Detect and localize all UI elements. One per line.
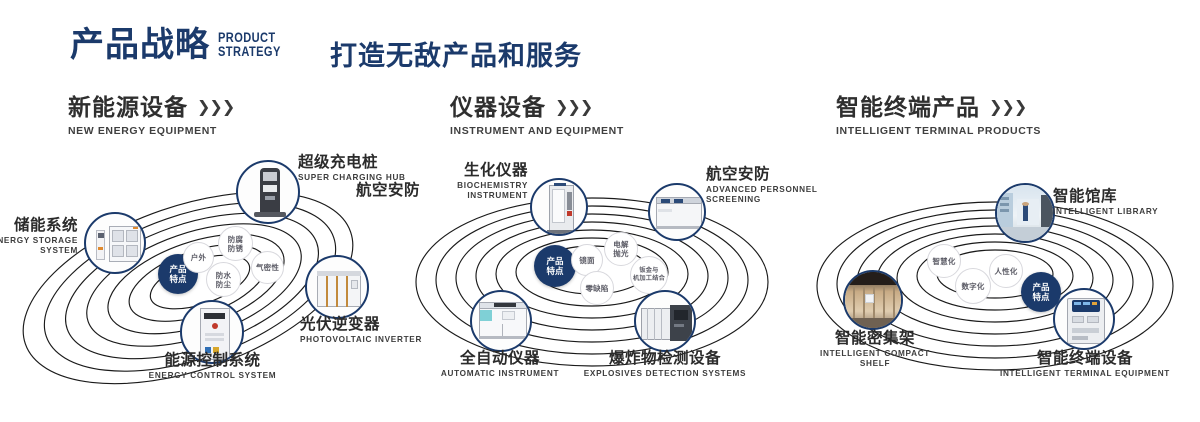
caption-cn: 爆炸物检测设备 <box>545 350 785 368</box>
caption-intelligent-terminal-equipment: 智能终端设备 INTELLIGENT TERMINAL EQUIPMENT <box>965 350 1200 379</box>
node-photovoltaic-inverter[interactable] <box>305 255 369 319</box>
feature-bubble-2: 防水 防尘 <box>206 262 241 297</box>
core-bubble-label: 产品 特点 <box>169 264 186 284</box>
biochemistry-instrument-illustration <box>532 180 586 234</box>
chevrons-icon: ❯❯❯ <box>989 95 1026 121</box>
caption-cn: 智能终端设备 <box>965 350 1200 368</box>
intelligent-library-illustration <box>997 185 1053 241</box>
node-explosives-detection-systems[interactable] <box>634 290 696 352</box>
feature-label: 人性化 <box>994 267 1017 276</box>
caption-en: INTELLIGENT LIBRARY <box>1053 207 1200 217</box>
feature-label: 钣金与 机加工结合 <box>633 267 665 282</box>
chevrons-icon: ❯❯❯ <box>555 95 592 121</box>
section-title-text-intelligent-terminal: 智能终端产品 <box>836 94 980 120</box>
section-title-en-intelligent-terminal: INTELLIGENT TERMINAL PRODUCTS <box>836 125 1041 137</box>
feature-bubble-2: 零缺陷 <box>580 271 614 305</box>
core-bubble-label: 产品 特点 <box>1032 282 1049 302</box>
section-heading-instrument: 仪器设备❯❯❯ INSTRUMENT AND EQUIPMENT <box>450 94 624 137</box>
screening-machine-illustration <box>650 185 704 239</box>
explosives-detection-illustration <box>636 292 694 350</box>
page-slogan: 打造无敌产品和服务 <box>330 34 582 73</box>
feature-label: 零缺陷 <box>585 284 608 293</box>
section-title-cn-intelligent-terminal: 智能终端产品❯❯❯ <box>836 94 1041 121</box>
caption-cn: 智能密集架 <box>755 330 995 348</box>
caption-explosives-detection-systems: 爆炸物检测设备 EXPLOSIVES DETECTION SYSTEMS <box>545 350 785 379</box>
node-intelligent-terminal-equipment[interactable] <box>1053 288 1115 350</box>
node-biochemistry-instrument[interactable] <box>530 178 588 236</box>
node-advanced-personnel-screening[interactable] <box>648 183 706 241</box>
caption-en: BIOCHEMISTRY INSTRUMENT <box>348 181 528 201</box>
intelligent-terminal-illustration <box>1055 290 1113 348</box>
section-heading-intelligent-terminal: 智能终端产品❯❯❯ INTELLIGENT TERMINAL PRODUCTS <box>836 94 1041 137</box>
feature-bubble-1: 防腐 防锈 <box>218 226 253 261</box>
caption-en: ENERGY CONTROL SYSTEM <box>80 371 345 381</box>
feature-bubble-1: 数字化 <box>955 268 991 304</box>
feature-label: 电解 抛光 <box>613 240 628 258</box>
page-header: 产品战略 PRODUCT STRATEGY 打造无敌产品和服务 <box>0 0 1200 88</box>
section-title-cn-new-energy: 新能源设备❯❯❯ <box>68 94 234 121</box>
section-title-en-new-energy: NEW ENERGY EQUIPMENT <box>68 125 234 137</box>
feature-label: 气密性 <box>256 263 279 272</box>
feature-bubble-1: 电解 抛光 <box>604 232 638 266</box>
section-title-text-instrument: 仪器设备 <box>450 94 546 120</box>
core-bubble-instrument: 产品 特点 <box>534 245 576 287</box>
energy-storage-illustration <box>86 214 144 272</box>
caption-en: ENERGY STORAGE SYSTEM <box>0 236 78 256</box>
caption-energy-control-system: 能源控制系统 ENERGY CONTROL SYSTEM <box>80 352 345 381</box>
feature-label: 户外 <box>191 253 206 262</box>
caption-intelligent-library: 智能馆库 INTELLIGENT LIBRARY <box>1053 188 1200 217</box>
section-title-cn-instrument: 仪器设备❯❯❯ <box>450 94 624 121</box>
caption-energy-storage-system: 储能系统 ENERGY STORAGE SYSTEM <box>0 217 78 256</box>
feature-label: 防腐 防锈 <box>228 235 243 253</box>
caption-cn: 生化仪器 <box>348 162 528 180</box>
page-title-cn: 产品战略 <box>70 28 210 62</box>
cluster-intelligent-terminal: 智慧化 数字化 人性化 产品 特点 智能馆库 INTELLIGENT LIBRA… <box>795 150 1200 422</box>
core-bubble-label: 产品 特点 <box>546 256 563 276</box>
caption-en: EXPLOSIVES DETECTION SYSTEMS <box>545 369 785 379</box>
caption-cn: 智能馆库 <box>1053 188 1200 206</box>
node-energy-storage-system[interactable] <box>84 212 146 274</box>
feature-bubble-3: 钣金与 机加工结合 <box>630 256 668 294</box>
intelligent-compact-shelf-illustration <box>845 272 901 328</box>
feature-label: 镜面 <box>579 256 594 265</box>
feature-label: 数字化 <box>961 282 984 291</box>
feature-label: 防水 防尘 <box>216 271 231 289</box>
caption-biochemistry-instrument: 生化仪器 BIOCHEMISTRY INSTRUMENT <box>348 162 528 201</box>
feature-bubble-0: 智慧化 <box>927 244 961 278</box>
page-title-en: PRODUCT STRATEGY <box>218 31 281 59</box>
section-title-text-new-energy: 新能源设备 <box>68 94 188 120</box>
caption-intelligent-compact-shelf: 智能密集架 INTELLIGENT COMPACT SHELF <box>755 330 995 369</box>
caption-cn: 能源控制系统 <box>80 352 345 370</box>
feature-label: 智慧化 <box>932 257 955 266</box>
caption-en: INTELLIGENT COMPACT SHELF <box>755 349 995 369</box>
section-title-en-instrument: INSTRUMENT AND EQUIPMENT <box>450 125 624 137</box>
caption-cn: 储能系统 <box>0 217 78 235</box>
section-heading-new-energy: 新能源设备❯❯❯ NEW ENERGY EQUIPMENT <box>68 94 234 137</box>
automatic-instrument-illustration <box>472 292 530 350</box>
chevrons-icon: ❯❯❯ <box>197 95 234 121</box>
node-intelligent-compact-shelf[interactable] <box>843 270 903 330</box>
cluster-instrument: 产品 特点 镜面 电解 抛光 零缺陷 钣金与 机加工结合 航空安防 生化仪器 B… <box>400 150 800 422</box>
node-intelligent-library[interactable] <box>995 183 1055 243</box>
photovoltaic-inverter-illustration <box>307 257 367 317</box>
feature-bubble-3: 气密性 <box>251 251 284 284</box>
caption-en: INTELLIGENT TERMINAL EQUIPMENT <box>965 369 1200 379</box>
node-automatic-instrument[interactable] <box>470 290 532 352</box>
feature-bubble-2: 人性化 <box>989 254 1023 288</box>
